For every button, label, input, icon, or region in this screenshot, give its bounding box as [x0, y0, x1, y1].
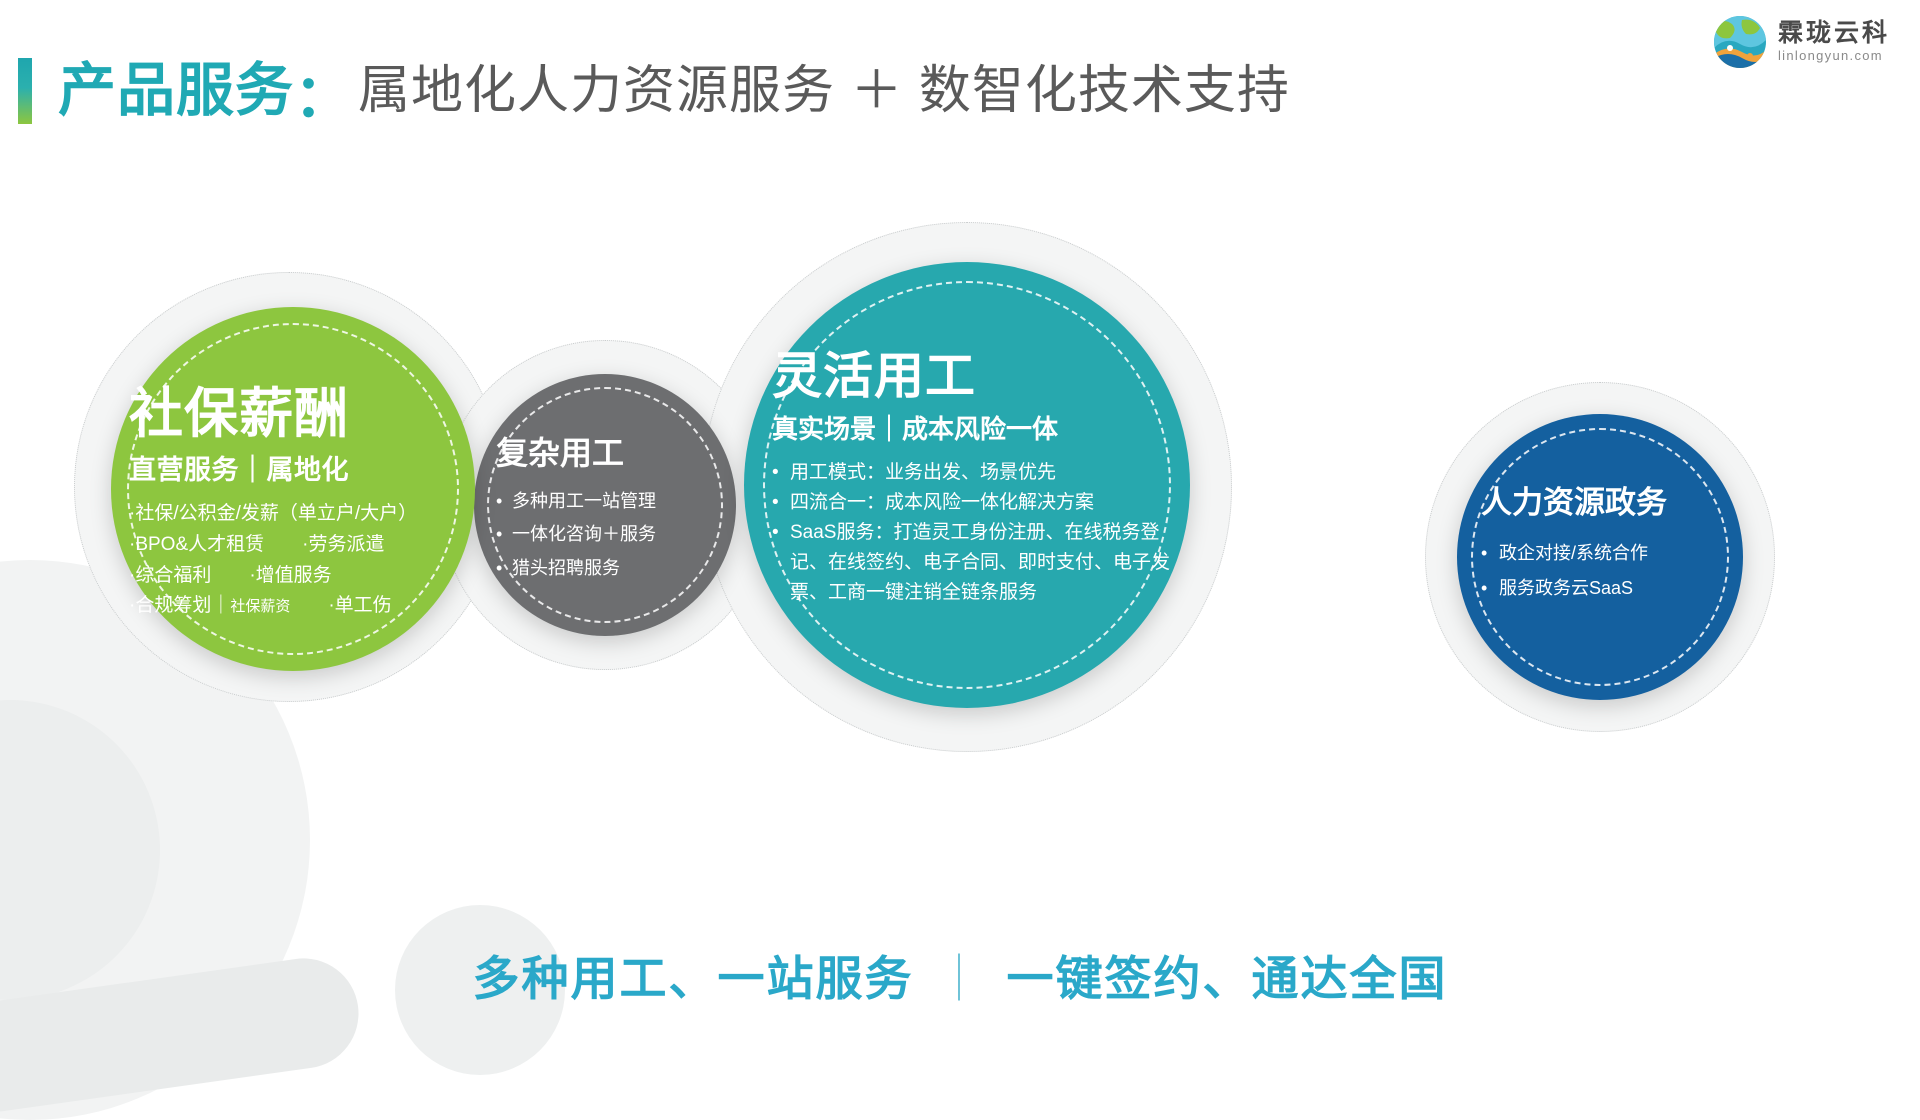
circle-flexible-employment[interactable]: 灵活用工 真实场景｜成本风险一体 • 用工模式：业务出发、场景优先 • 四流合一… — [744, 262, 1190, 708]
bullet-icon: • — [496, 552, 512, 585]
circle-teal-title: 灵活用工 — [772, 350, 1172, 403]
list-item: • 服务政务云SaaS — [1481, 571, 1731, 606]
title-accent-bar — [18, 58, 32, 124]
logo-text: 霖珑云科 linlongyun.com — [1778, 20, 1890, 64]
list-item-label: SaaS服务：打造灵工身份注册、在线税务登记、在线签约、电子合同、即时支付、电子… — [790, 518, 1172, 608]
bullet-icon: • — [772, 488, 790, 518]
list-item: • 一体化咨询＋服务 — [496, 518, 726, 551]
footer-tagline: 多种用工、一站服务｜一键签约、通达全国 — [0, 940, 1920, 1009]
list-item-label: 服务政务云SaaS — [1499, 571, 1633, 606]
list-item: • 猎头招聘服务 — [496, 552, 726, 585]
bullet-icon: • — [496, 485, 512, 518]
circle-green-subtitle: 直营服务｜属地化 — [129, 448, 459, 487]
list-item-label: 政企对接/系统合作 — [1499, 536, 1648, 571]
circle-gray-list: • 多种用工一站管理 • 一体化咨询＋服务 • 猎头招聘服务 — [496, 485, 726, 585]
bullet-icon: • — [1481, 536, 1499, 571]
circle-blue-title: 人力资源政务 — [1481, 486, 1731, 520]
list-item: • 多种用工一站管理 — [496, 485, 726, 518]
circle-blue-content: 人力资源政务 • 政企对接/系统合作 • 服务政务云SaaS — [1481, 486, 1731, 606]
bullet-icon: • — [772, 458, 790, 488]
list-item-label: 用工模式：业务出发、场景优先 — [790, 458, 1056, 488]
bullet-icon: • — [496, 518, 512, 551]
bullet-icon: • — [1481, 571, 1499, 606]
circle-teal-list: • 用工模式：业务出发、场景优先 • 四流合一：成本风险一体化解决方案 • Sa… — [772, 458, 1172, 608]
list-item: ·社保/公积金/发薪（单立户/大户） — [129, 499, 459, 530]
circle-teal-content: 灵活用工 真实场景｜成本风险一体 • 用工模式：业务出发、场景优先 • 四流合一… — [772, 350, 1172, 608]
list-item-label: 猎头招聘服务 — [512, 552, 620, 585]
circle-social-insurance-payroll[interactable]: 社保薪酬 直营服务｜属地化 ·社保/公积金/发薪（单立户/大户） ·BPO&人才… — [111, 307, 475, 671]
list-item-label-b: ·单工伤 — [290, 595, 391, 616]
list-item: • 四流合一：成本风险一体化解决方案 — [772, 488, 1172, 518]
page-subtitle: 属地化人力资源服务 ＋ 数智化技术支持 — [358, 65, 1290, 117]
list-item: ·综合福利 ·增值服务 — [129, 561, 459, 592]
circle-gray-title: 复杂用工 — [496, 436, 726, 471]
list-item-label: 一体化咨询＋服务 — [512, 518, 656, 551]
list-item-label: 四流合一：成本风险一体化解决方案 — [790, 488, 1094, 518]
globe-icon — [1712, 14, 1768, 70]
circle-green-content: 社保薪酬 直营服务｜属地化 ·社保/公积金/发薪（单立户/大户） ·BPO&人才… — [129, 387, 459, 622]
list-item-label: 多种用工一站管理 — [512, 485, 656, 518]
list-item: ·BPO&人才租赁 ·劳务派遣 — [129, 530, 459, 561]
diagram-stage: 复杂用工 • 多种用工一站管理 • 一体化咨询＋服务 • 猎头招聘服务 社保薪酬 — [0, 150, 1920, 910]
page-header: 产品服务 ： 属地化人力资源服务 ＋ 数智化技术支持 — [0, 48, 1290, 134]
list-item: • 政企对接/系统合作 — [1481, 536, 1731, 571]
logo-name-cn: 霖珑云科 — [1778, 20, 1890, 46]
circle-teal-subtitle: 真实场景｜成本风险一体 — [772, 409, 1172, 446]
bullet-icon: • — [772, 518, 790, 548]
list-item-label-a: ·合规筹划｜ — [129, 595, 230, 616]
list-item: ·合规筹划｜社保薪资 ·单工伤 — [129, 591, 459, 622]
circle-green-list: ·社保/公积金/发薪（单立户/大户） ·BPO&人才租赁 ·劳务派遣 ·综合福利… — [129, 499, 459, 622]
list-item: • 用工模式：业务出发、场景优先 — [772, 458, 1172, 488]
circle-green-title: 社保薪酬 — [129, 387, 459, 442]
page-title: 产品服务 — [58, 62, 294, 120]
circle-hr-government-affairs[interactable]: 人力资源政务 • 政企对接/系统合作 • 服务政务云SaaS — [1457, 414, 1743, 700]
list-item: • SaaS服务：打造灵工身份注册、在线税务登记、在线签约、电子合同、即时支付、… — [772, 518, 1172, 608]
tagline-separator: ｜ — [914, 952, 1007, 1005]
list-item-label-small: 社保薪资 — [230, 598, 290, 615]
logo-name-en: linlongyun.com — [1778, 48, 1890, 64]
tagline-right: 一键签约、通达全国 — [1007, 952, 1448, 1005]
company-logo: 霖珑云科 linlongyun.com — [1712, 14, 1890, 70]
circle-gray-content: 复杂用工 • 多种用工一站管理 • 一体化咨询＋服务 • 猎头招聘服务 — [496, 436, 726, 585]
circle-complex-employment[interactable]: 复杂用工 • 多种用工一站管理 • 一体化咨询＋服务 • 猎头招聘服务 — [474, 374, 736, 636]
circle-blue-list: • 政企对接/系统合作 • 服务政务云SaaS — [1481, 536, 1731, 606]
page-title-colon: ： — [294, 49, 352, 133]
tagline-left: 多种用工、一站服务 — [473, 952, 914, 1005]
